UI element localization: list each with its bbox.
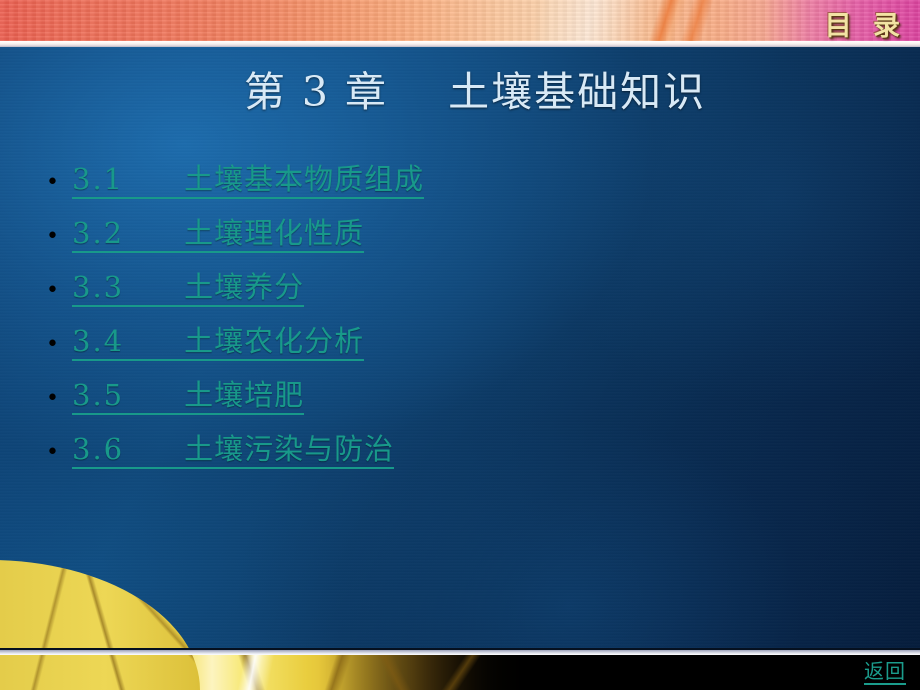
bullet-icon: • bbox=[46, 280, 72, 302]
presentation-slide: 目 录 第 3 章 土壤基础知识 • 3.1 土壤基本物质组成 • 3.2 土壤… bbox=[0, 0, 920, 690]
toc-number: 3.2 bbox=[72, 216, 124, 250]
toc-number: 3.3 bbox=[72, 270, 124, 304]
toc-number: 3.5 bbox=[72, 378, 124, 412]
bullet-icon: • bbox=[46, 442, 72, 464]
toc-number: 3.6 bbox=[72, 432, 124, 466]
toc-spacer bbox=[124, 162, 184, 196]
toc-link-3-5[interactable]: 3.5 土壤培肥 bbox=[72, 380, 304, 415]
toc-spacer bbox=[124, 378, 184, 412]
list-item[interactable]: • 3.1 土壤基本物质组成 bbox=[46, 164, 424, 218]
toc-link-3-2[interactable]: 3.2 土壤理化性质 bbox=[72, 218, 364, 253]
toc-link-3-4[interactable]: 3.4 土壤农化分析 bbox=[72, 326, 364, 361]
bullet-icon: • bbox=[46, 388, 72, 410]
toc-spacer bbox=[124, 270, 184, 304]
toc-link-3-1[interactable]: 3.1 土壤基本物质组成 bbox=[72, 164, 424, 199]
back-button[interactable]: 返回 bbox=[864, 660, 906, 685]
list-item[interactable]: • 3.2 土壤理化性质 bbox=[46, 218, 424, 272]
toc-label: 土壤培肥 bbox=[184, 378, 304, 412]
toc-number: 3.4 bbox=[72, 324, 124, 358]
toc-label: 土壤污染与防治 bbox=[184, 432, 394, 466]
list-item[interactable]: • 3.3 土壤养分 bbox=[46, 272, 424, 326]
gold-band-highlight bbox=[236, 655, 276, 690]
toc-link-3-6[interactable]: 3.6 土壤污染与防治 bbox=[72, 434, 394, 469]
table-of-contents-badge[interactable]: 目 录 bbox=[825, 4, 906, 43]
table-of-contents-list: • 3.1 土壤基本物质组成 • 3.2 土壤理化性质 • 3.3 土壤养分 •… bbox=[46, 164, 424, 488]
toc-label: 土壤基本物质组成 bbox=[184, 162, 424, 196]
toc-link-3-3[interactable]: 3.3 土壤养分 bbox=[72, 272, 304, 307]
toc-label: 土壤理化性质 bbox=[184, 216, 364, 250]
bullet-icon: • bbox=[46, 172, 72, 194]
bottom-separator-rule bbox=[0, 650, 920, 655]
list-item[interactable]: • 3.5 土壤培肥 bbox=[46, 380, 424, 434]
toc-spacer bbox=[124, 216, 184, 250]
toc-spacer bbox=[124, 432, 184, 466]
toc-label: 土壤农化分析 bbox=[184, 324, 364, 358]
list-item[interactable]: • 3.4 土壤农化分析 bbox=[46, 326, 424, 380]
toc-label: 土壤养分 bbox=[184, 270, 304, 304]
bullet-icon: • bbox=[46, 226, 72, 248]
toc-spacer bbox=[124, 324, 184, 358]
top-decorative-banner bbox=[0, 0, 920, 41]
bullet-icon: • bbox=[46, 334, 72, 356]
toc-number: 3.1 bbox=[72, 162, 124, 196]
page-title: 第 3 章 土壤基础知识 bbox=[0, 58, 920, 118]
list-item[interactable]: • 3.6 土壤污染与防治 bbox=[46, 434, 424, 488]
